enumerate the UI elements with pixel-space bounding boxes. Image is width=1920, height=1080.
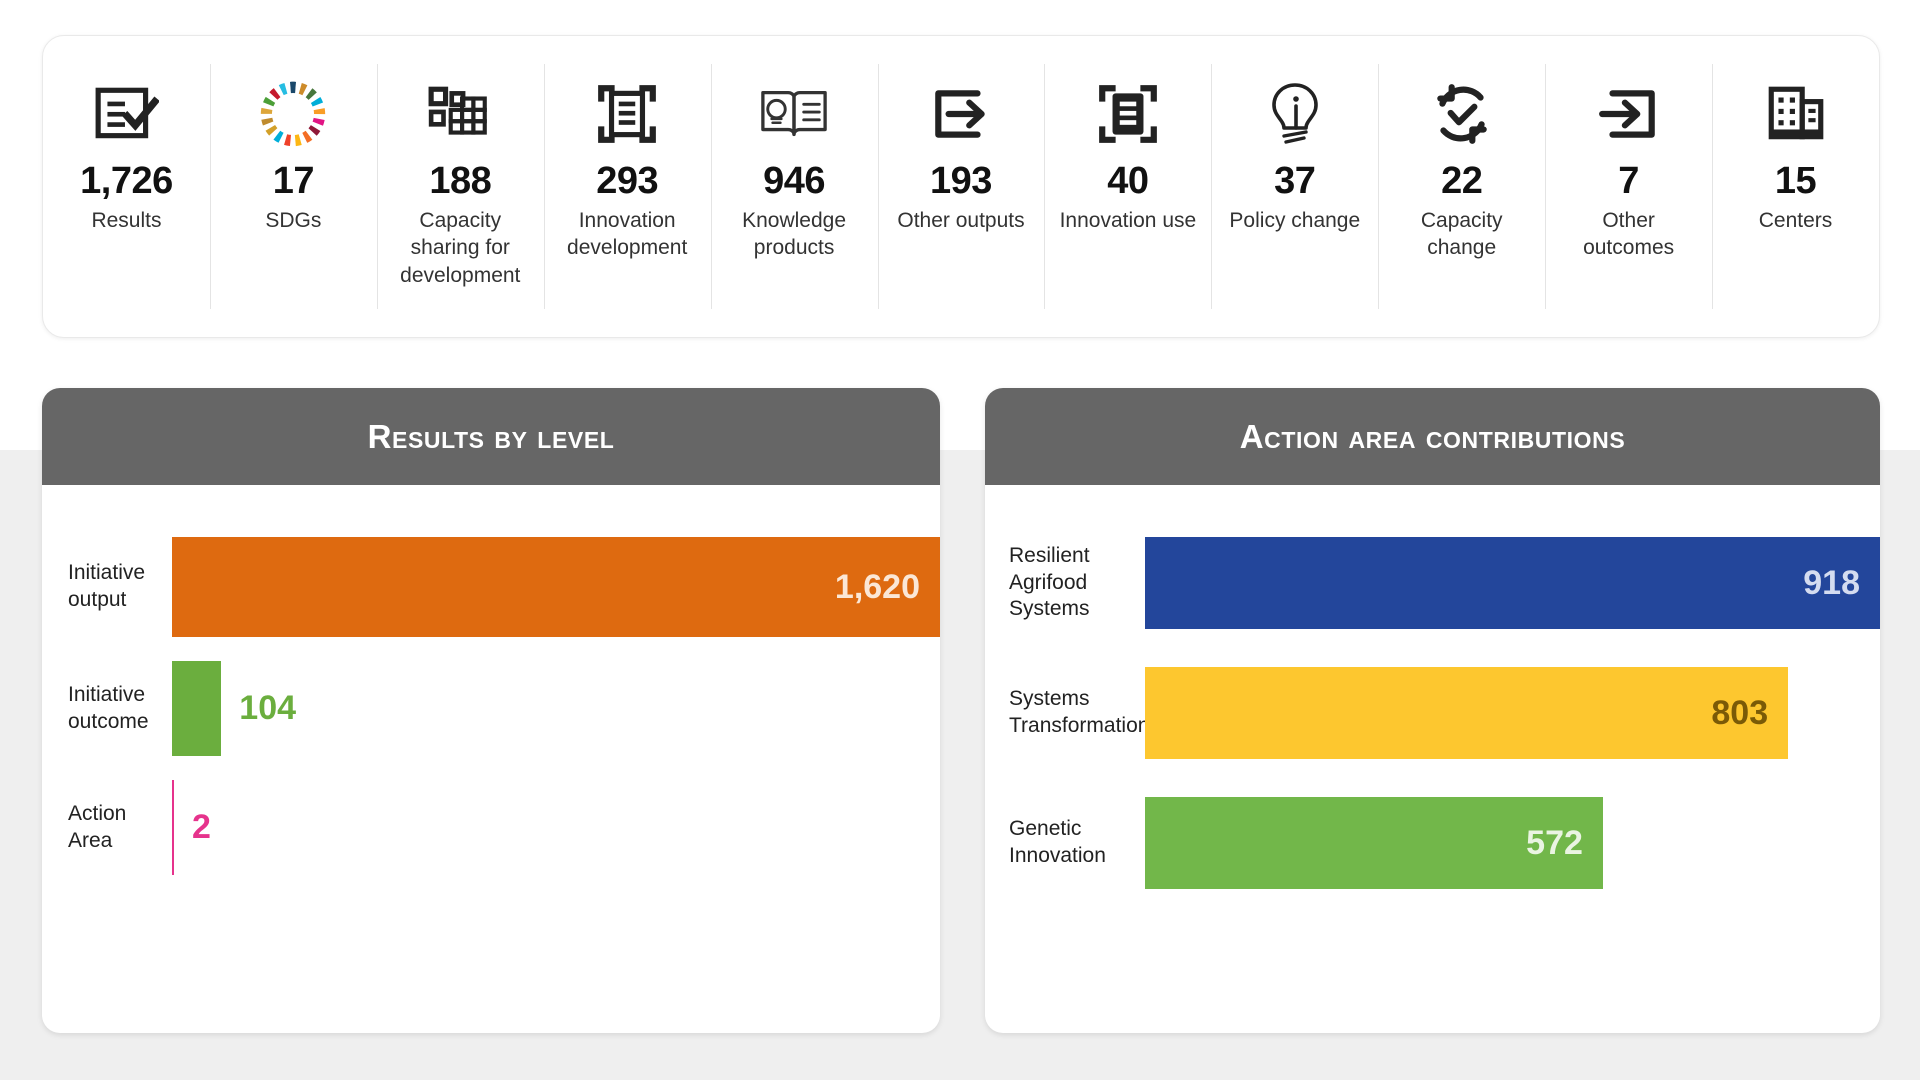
summary-stats-card: 1,726 Results [42, 35, 1880, 338]
bar-value-label: 2 [192, 808, 211, 847]
stat-sdgs[interactable]: 17 SDGs [210, 36, 377, 337]
bar-value-label: 1,620 [835, 568, 940, 607]
checklist-icon [93, 76, 159, 152]
stat-capacity-change[interactable]: 22 Capacity change [1378, 36, 1545, 337]
bar-track: 572 [1145, 797, 1880, 889]
stat-value: 40 [1107, 162, 1148, 201]
bar-value-label: 918 [1803, 564, 1880, 603]
action-area-contributions-header: Action Area Contributions [985, 388, 1880, 485]
stat-centers[interactable]: 15 Centers [1712, 36, 1879, 337]
buildings-icon [1763, 76, 1829, 152]
bar-track: 1,620 [172, 537, 940, 637]
stat-value: 17 [273, 162, 314, 201]
stat-label: Capacity sharing for development [380, 207, 540, 290]
bulb-info-icon [1264, 76, 1326, 152]
results-by-level-chart: Initiative output 1,620 Initiative outco… [42, 485, 940, 1033]
bar-row: Initiative outcome 104 [42, 661, 940, 756]
bar-row: Initiative output 1,620 [42, 537, 940, 637]
stat-other-outcomes[interactable]: 7 Other outcomes [1545, 36, 1712, 337]
stat-other-outputs[interactable]: 193 Other outputs [878, 36, 1045, 337]
stat-innovation-use[interactable]: 40 Innovation use [1044, 36, 1211, 337]
stat-innovation-development[interactable]: 293 Innovation development [544, 36, 711, 337]
bar-action-area[interactable]: 2 [172, 780, 174, 875]
arrow-out-box-icon [928, 76, 994, 152]
results-by-level-header: Results by level [42, 388, 940, 485]
stat-label: Knowledge products [714, 207, 874, 262]
bar-category-label: Resilient Agrifood Systems [985, 543, 1145, 624]
stat-value: 946 [763, 162, 825, 201]
bar-row: Resilient Agrifood Systems 918 [985, 537, 1880, 629]
chart-title: Action Area Contributions [1240, 418, 1626, 456]
stat-value: 37 [1274, 162, 1315, 201]
stat-value: 193 [930, 162, 992, 201]
capacity-blocks-icon [427, 76, 493, 152]
bar-systems-transformation[interactable]: 803 [1145, 667, 1788, 759]
bar-resilient-agrifood-systems[interactable]: 918 [1145, 537, 1880, 629]
stat-label: Innovation development [547, 207, 707, 262]
stat-policy-change[interactable]: 37 Policy change [1211, 36, 1378, 337]
stat-label: Results [85, 207, 167, 235]
innovation-use-icon [1095, 76, 1161, 152]
stat-label: Other outputs [891, 207, 1030, 235]
bar-value-label: 572 [1526, 824, 1603, 863]
stat-label: Other outcomes [1549, 207, 1709, 262]
action-area-contributions-chart: Resilient Agrifood Systems 918 Systems T… [985, 485, 1880, 1033]
stat-knowledge-products[interactable]: 946 Knowledge products [711, 36, 878, 337]
stat-value: 293 [596, 162, 658, 201]
stat-label: Innovation use [1054, 207, 1203, 235]
bar-category-label: Genetic Innovation [985, 816, 1145, 870]
bar-track: 2 [172, 780, 940, 875]
bar-track: 918 [1145, 537, 1880, 629]
stat-value: 188 [429, 162, 491, 201]
refresh-check-icon [1429, 76, 1495, 152]
bar-row: Systems Transformation 803 [985, 667, 1880, 759]
stat-label: Centers [1753, 207, 1839, 235]
stat-label: Capacity change [1382, 207, 1542, 262]
bar-row: Genetic Innovation 572 [985, 797, 1880, 889]
arrow-in-box-icon [1596, 76, 1662, 152]
bar-category-label: Initiative outcome [42, 682, 172, 736]
bar-value-label: 104 [239, 689, 296, 728]
bar-track: 803 [1145, 667, 1880, 759]
stat-value: 15 [1775, 162, 1816, 201]
bar-track: 104 [172, 661, 940, 756]
stat-label: Policy change [1223, 207, 1366, 235]
bar-category-label: Systems Transformation [985, 686, 1145, 740]
stat-results[interactable]: 1,726 Results [43, 36, 210, 337]
stat-value: 7 [1618, 162, 1639, 201]
bar-initiative-output[interactable]: 1,620 [172, 537, 940, 637]
stat-capacity-sharing[interactable]: 188 Capacity sharing for development [377, 36, 544, 337]
chart-title: Results by level [368, 418, 615, 456]
bar-initiative-outcome[interactable]: 104 [172, 661, 221, 756]
bar-row: Action Area 2 [42, 780, 940, 875]
stat-value: 1,726 [80, 162, 173, 201]
stat-value: 22 [1441, 162, 1482, 201]
sdg-wheel-icon [258, 76, 328, 152]
results-by-level-card: Results by level Initiative output 1,620… [42, 388, 940, 1033]
bar-genetic-innovation[interactable]: 572 [1145, 797, 1603, 889]
action-area-contributions-card: Action Area Contributions Resilient Agri… [985, 388, 1880, 1033]
dashboard-root: 1,726 Results [0, 0, 1920, 1080]
bar-value-label: 803 [1711, 694, 1788, 733]
bar-category-label: Action Area [42, 801, 172, 855]
stat-label: SDGs [259, 207, 327, 235]
open-book-bulb-icon [759, 76, 829, 152]
innovation-scan-icon [594, 76, 660, 152]
bar-category-label: Initiative output [42, 560, 172, 614]
